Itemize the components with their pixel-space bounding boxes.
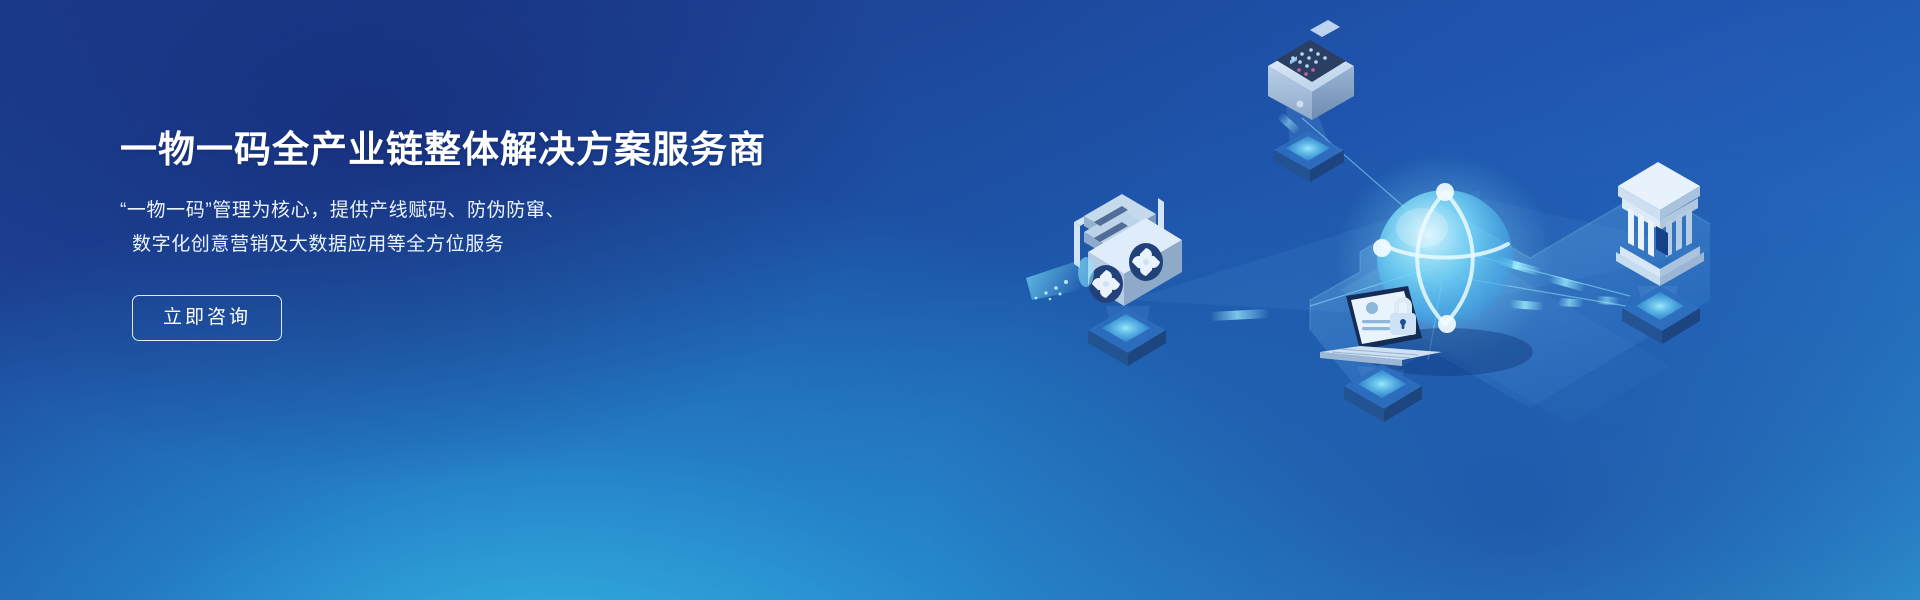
network-links: [1302, 118, 1630, 360]
hero-subtitle: “一物一码”管理为核心，提供产线赋码、防伪防窜、 数字化创意营销及大数据应用等全…: [120, 194, 840, 261]
laptop-secure-node: [1320, 286, 1442, 422]
pedestal-cube-top: [1274, 131, 1344, 182]
pos-terminal-node: [1268, 20, 1354, 182]
consult-now-button[interactable]: 立即咨询: [132, 295, 282, 341]
server-rack-node: [1026, 194, 1182, 366]
page-title: 一物一码全产业链整体解决方案服务商: [120, 128, 840, 172]
pedestal-cube-left: [1088, 308, 1166, 366]
hero-banner: 一物一码全产业链整体解决方案服务商 “一物一码”管理为核心，提供产线赋码、防伪防…: [0, 0, 1920, 600]
hero-subtitle-line-1: “一物一码”管理为核心，提供产线赋码、防伪防窜、: [120, 194, 840, 227]
light-wedge: [1130, 190, 1710, 320]
fan-icon-left: [1089, 265, 1123, 303]
pedestal-cube-bottom: [1344, 364, 1422, 422]
lock-icon: [1390, 297, 1416, 335]
hero-illustration: [1010, 0, 1770, 600]
iso-platform: [1310, 188, 1710, 424]
globe-sphere-node: [1335, 154, 1555, 376]
hero-subtitle-line-2: 数字化创意营销及大数据应用等全方位服务: [120, 228, 840, 261]
fan-icon-right: [1129, 243, 1163, 281]
pedestal-cube-right: [1622, 286, 1700, 344]
data-pulses: [1210, 112, 1620, 321]
background-glow-bottom-right: [920, 140, 1920, 600]
light-cone: [1026, 257, 1094, 300]
hero-copy: 一物一码全产业链整体解决方案服务商 “一物一码”管理为核心，提供产线赋码、防伪防…: [120, 128, 840, 341]
bank-building-node: [1616, 162, 1704, 344]
